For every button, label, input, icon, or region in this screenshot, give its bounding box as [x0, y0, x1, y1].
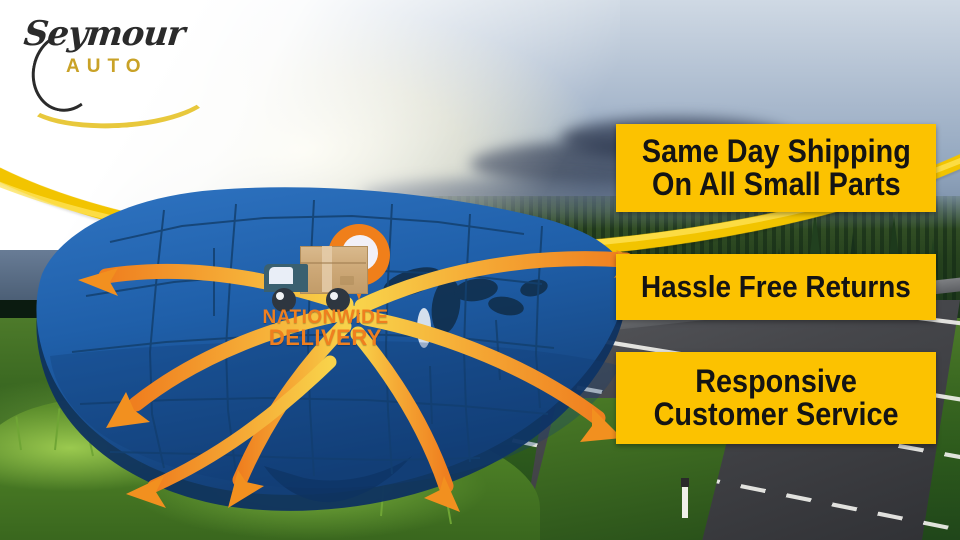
banner-3-line-1: Responsive [654, 365, 899, 398]
banner-1-line-1: Same Day Shipping [642, 135, 911, 168]
banner-2-line-1: Hassle Free Returns [641, 271, 911, 303]
feature-banner-shipping[interactable]: Same Day Shipping On All Small Parts [616, 124, 936, 212]
banner-3-line-2: Customer Service [654, 398, 899, 431]
logo-wordmark: Seymour [22, 14, 186, 54]
label-line-2: DELIVERY [258, 327, 393, 349]
feature-banner-service[interactable]: Responsive Customer Service [616, 352, 936, 444]
promo-banner-slide: Seymour AUTO [0, 0, 960, 540]
delivery-truck-icon [264, 242, 372, 306]
logo[interactable]: Seymour AUTO [18, 14, 218, 100]
delivery-badge: NATIONWIDE DELIVERY [258, 222, 418, 362]
feature-banner-returns[interactable]: Hassle Free Returns [616, 254, 936, 320]
banner-1-line-2: On All Small Parts [642, 168, 911, 201]
road-marker-post [682, 478, 688, 518]
nationwide-delivery-label: NATIONWIDE DELIVERY [258, 308, 393, 350]
